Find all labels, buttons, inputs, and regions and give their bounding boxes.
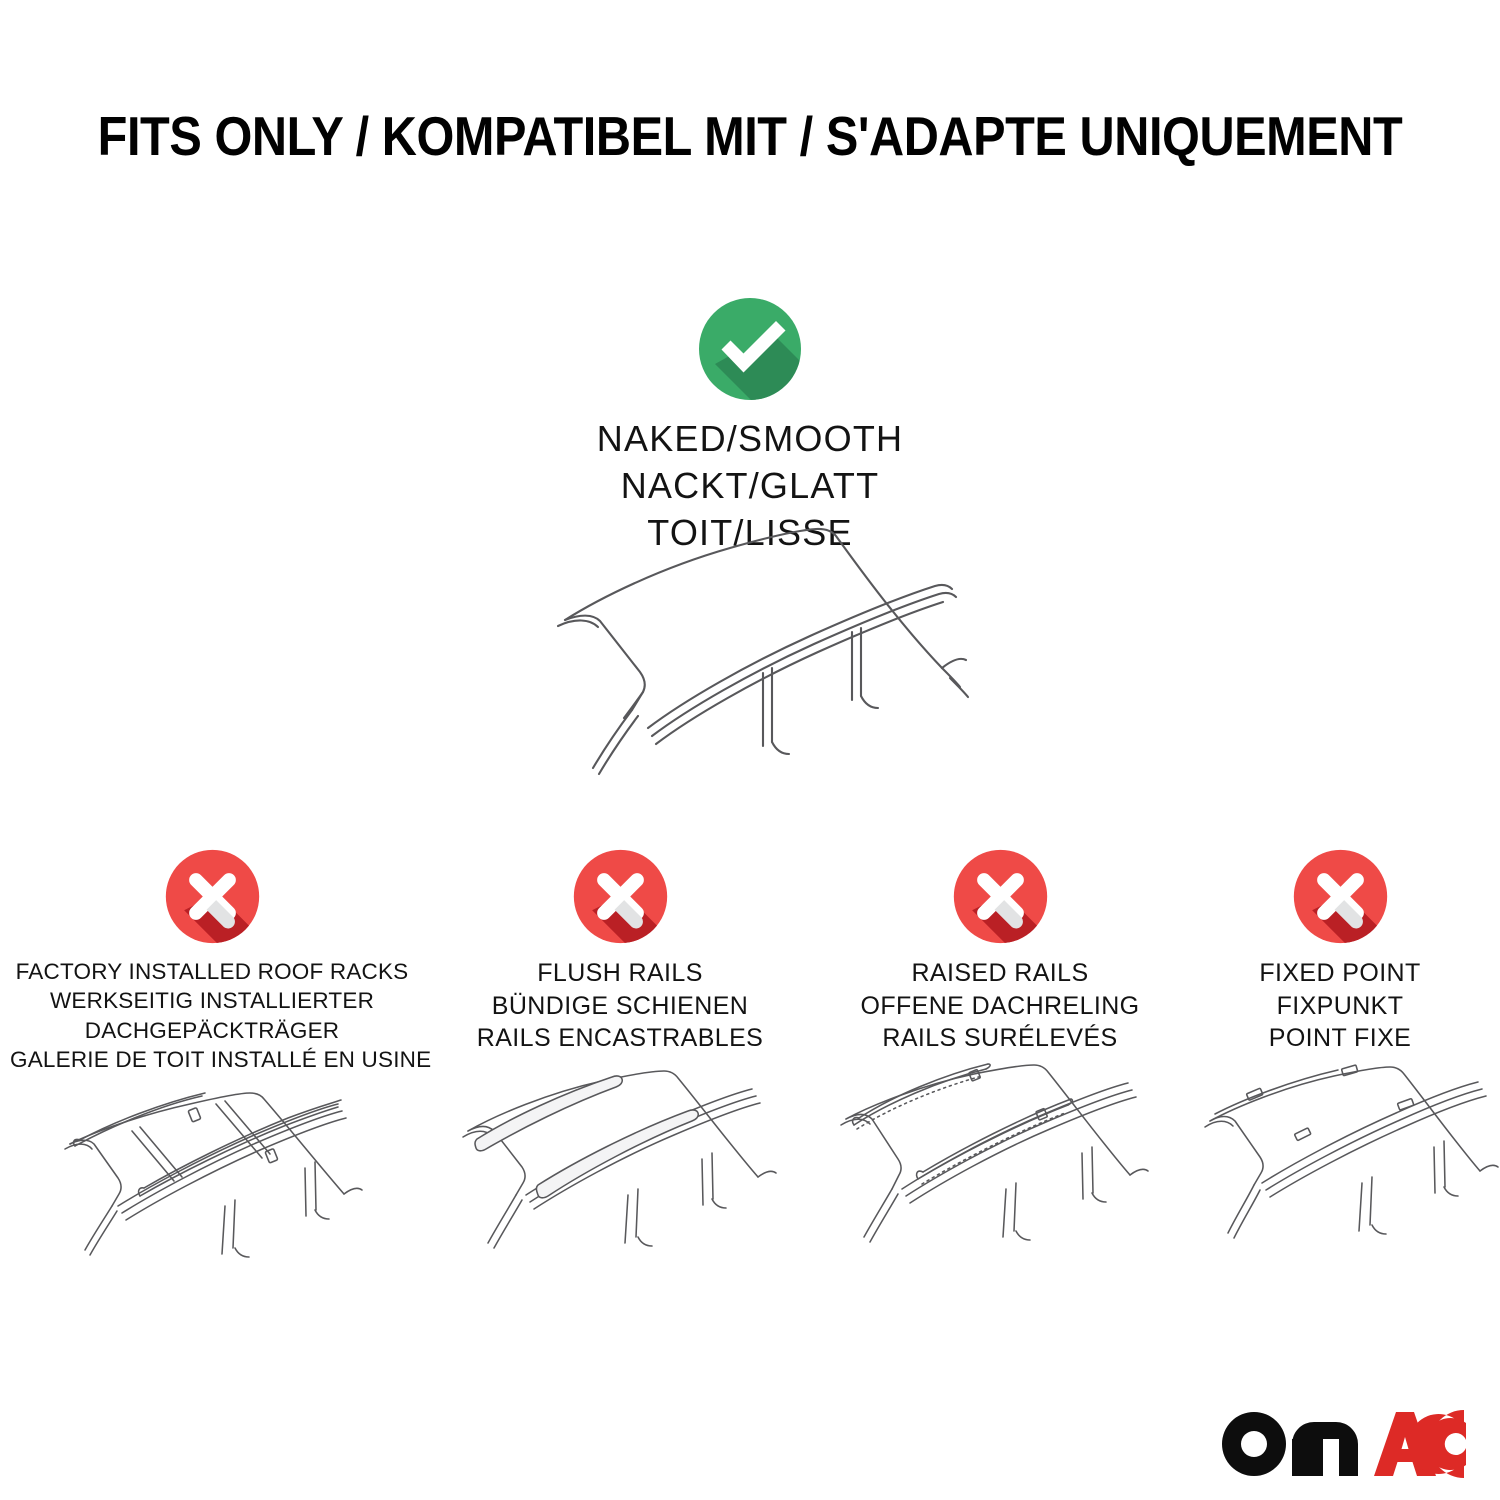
- caption-line: FIXPUNKT: [1190, 990, 1490, 1023]
- caption-line: FACTORY INSTALLED ROOF RACKS: [10, 957, 414, 986]
- caption-line: RAISED RAILS: [810, 957, 1190, 990]
- cross-badge-icon: [1292, 848, 1389, 945]
- incompatible-caption-factory-installed-roof-racks: FACTORY INSTALLED ROOF RACKS WERKSEITIG …: [10, 957, 414, 1074]
- caption-line: DACHGEPÄCKTRÄGER: [10, 1016, 414, 1045]
- car-roof-raised-rails-illustration: [810, 1063, 1190, 1273]
- caption-line: FLUSH RAILS: [430, 957, 810, 990]
- omac-logo-icon: [1218, 1408, 1466, 1480]
- caption-line: POINT FIXE: [1190, 1022, 1490, 1055]
- compatible-caption-line-2: NACKT/GLATT: [0, 463, 1500, 510]
- compatible-caption-line-1: NAKED/SMOOTH: [0, 416, 1500, 463]
- incompatible-caption-flush-rails: FLUSH RAILS BÜNDIGE SCHIENEN RAILS ENCAS…: [430, 957, 810, 1055]
- car-roof-flush-rails-illustration: [430, 1063, 810, 1273]
- car-roof-fixed-point-illustration: [1190, 1063, 1500, 1273]
- compatible-illustration-wrap: [0, 510, 1500, 810]
- cross-badge-icon: [572, 848, 669, 945]
- cross-badge-icon: [952, 848, 1049, 945]
- omac-logo: [1218, 1408, 1466, 1485]
- caption-line: FIXED POINT: [1190, 957, 1490, 990]
- car-roof-naked-smooth-illustration: [480, 510, 1020, 810]
- illustration-wrap-raised-rails: [810, 1063, 1190, 1273]
- incompatible-section: FACTORY INSTALLED ROOF RACKS WERKSEITIG …: [0, 848, 1500, 1268]
- cross-badge-icon: [164, 848, 261, 945]
- illustration-wrap-flush-rails: [430, 1063, 810, 1273]
- incompatible-item-fixed-point: FIXED POINT FIXPUNKT POINT FIXE: [1190, 848, 1490, 1273]
- incompatible-item-factory-installed-roof-racks: FACTORY INSTALLED ROOF RACKS WERKSEITIG …: [10, 848, 414, 1292]
- incompatible-caption-fixed-point: FIXED POINT FIXPUNKT POINT FIXE: [1190, 957, 1490, 1055]
- incompatible-item-flush-rails: FLUSH RAILS BÜNDIGE SCHIENEN RAILS ENCAS…: [430, 848, 810, 1273]
- check-badge-icon: [697, 296, 803, 402]
- caption-line: OFFENE DACHRELING: [810, 990, 1190, 1023]
- illustration-wrap-factory-rack: [10, 1082, 414, 1292]
- car-roof-factory-rack-illustration: [22, 1082, 402, 1292]
- caption-line: BÜNDIGE SCHIENEN: [430, 990, 810, 1023]
- incompatible-caption-raised-rails: RAISED RAILS OFFENE DACHRELING RAILS SUR…: [810, 957, 1190, 1055]
- caption-line: GALERIE DE TOIT INSTALLÉ EN USINE: [10, 1045, 414, 1074]
- caption-line: WERKSEITIG INSTALLIERTER: [10, 986, 414, 1015]
- page-title: FITS ONLY / KOMPATIBEL MIT / S'ADAPTE UN…: [86, 104, 1414, 168]
- caption-line: RAILS SURÉLEVÉS: [810, 1022, 1190, 1055]
- incompatible-item-raised-rails: RAISED RAILS OFFENE DACHRELING RAILS SUR…: [810, 848, 1190, 1273]
- caption-line: RAILS ENCASTRABLES: [430, 1022, 810, 1055]
- illustration-wrap-fixed-point: [1190, 1063, 1490, 1273]
